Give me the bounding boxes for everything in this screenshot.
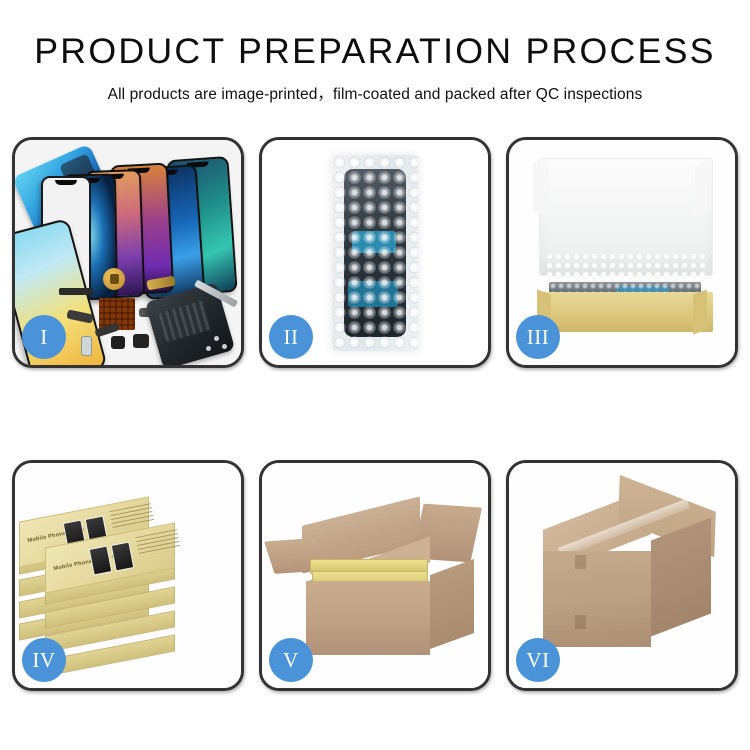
bubble-wrap-pouch-icon <box>332 155 418 351</box>
tray-corner-icon <box>693 289 707 334</box>
carton-front-icon <box>306 581 430 655</box>
camera-module-part-icon <box>111 336 125 349</box>
header: PRODUCT PREPARATION PROCESS All products… <box>0 0 750 104</box>
step-panel-2: II <box>259 137 491 368</box>
button-part-icon <box>81 336 92 356</box>
carton-seam <box>575 555 586 569</box>
screw-icon <box>206 346 211 351</box>
speaker-part-icon <box>133 334 149 348</box>
product-preparation-infographic: PRODUCT PREPARATION PROCESS All products… <box>0 0 750 750</box>
step-panel-4: Mobile Phone Spare Parts Mobile Phone Sp… <box>12 460 244 691</box>
screw-icon <box>222 344 227 349</box>
step-panel-1: I <box>12 137 244 368</box>
kraft-tray-icon <box>537 292 713 332</box>
page-subtitle: All products are image-printed，film-coat… <box>0 82 750 104</box>
carton-seam <box>575 615 586 629</box>
copper-coil-part-icon <box>103 268 125 290</box>
box-flap-icon <box>695 162 711 217</box>
carton-front-icon <box>543 551 651 647</box>
bubble-highlights <box>332 155 418 351</box>
step-numeral-badge: III <box>516 315 560 359</box>
step-panel-5: V <box>259 460 491 691</box>
step-numeral-badge: V <box>269 638 313 682</box>
step-numeral-badge: II <box>269 315 313 359</box>
step-panel-3: III <box>506 137 738 368</box>
step-numeral-badge: IV <box>22 638 66 682</box>
step-numeral-badge: VI <box>516 638 560 682</box>
process-step-grid: I II <box>12 137 738 691</box>
notch-icon <box>55 180 77 185</box>
step-numeral-badge: I <box>22 315 66 359</box>
step-panel-6: VI <box>506 460 738 691</box>
box-flap-icon <box>533 162 549 217</box>
speaker-mesh-part-icon <box>59 288 93 295</box>
page-title: PRODUCT PREPARATION PROCESS <box>0 34 750 69</box>
screw-icon <box>214 336 219 341</box>
